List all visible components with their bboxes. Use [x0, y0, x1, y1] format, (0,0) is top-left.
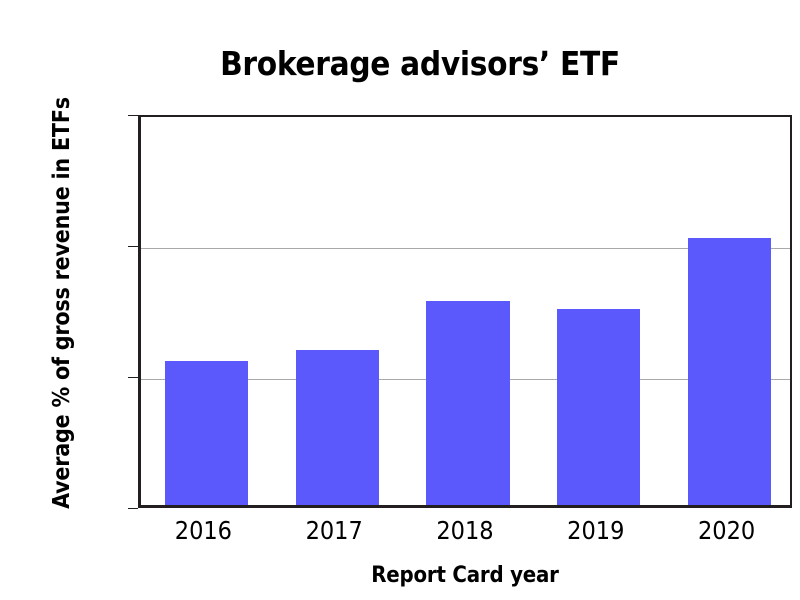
y-tick-mark [128, 377, 138, 378]
x-tick-label-2019: 2019 [531, 516, 661, 545]
y-tick-mark [128, 508, 138, 509]
bar-2019[interactable] [557, 309, 640, 506]
bars-layer [141, 117, 790, 505]
chart-figure: Brokerage advisors’ ETF usage over the y… [0, 0, 800, 600]
x-axis-title: Report Card year [138, 563, 792, 588]
bar-2020[interactable] [688, 238, 771, 505]
x-tick-label-2017: 2017 [269, 516, 399, 545]
x-tick-label-2018: 2018 [400, 516, 530, 545]
bar-2016[interactable] [165, 361, 248, 505]
x-tick-label-2016: 2016 [138, 516, 268, 545]
y-tick-mark [128, 246, 138, 247]
y-axis-title: Average % of gross revenue in ETFs [49, 93, 75, 513]
chart-title-line-1: Brokerage advisors’ ETF [220, 44, 620, 83]
plot-area [138, 115, 792, 508]
x-tick-label-2020: 2020 [662, 516, 792, 545]
bar-2017[interactable] [296, 350, 379, 505]
bar-2018[interactable] [426, 301, 509, 505]
